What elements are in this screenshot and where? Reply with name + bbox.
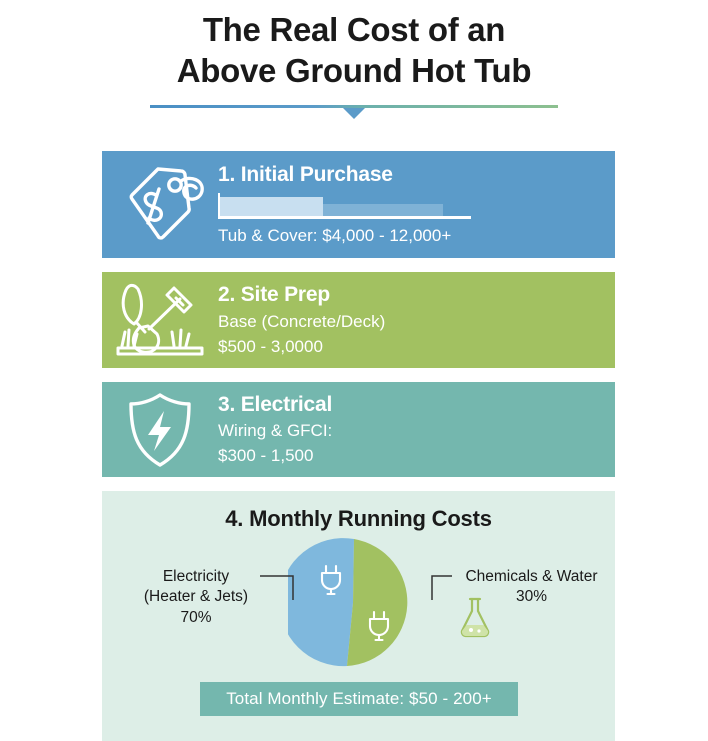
card-body: 1. Initial Purchase Tub & Cover: $4,000 … — [218, 162, 615, 247]
cost-card-electrical[interactable]: 3. Electrical Wiring & GFCI: $300 - 1,50… — [102, 382, 615, 477]
card-subtitle-line-2: $300 - 1,500 — [218, 445, 601, 467]
bar-baseline — [218, 216, 471, 219]
monthly-running-costs-panel: 4. Monthly Running Costs — [102, 491, 615, 741]
header-divider — [150, 105, 558, 119]
card-body: 3. Electrical Wiring & GFCI: $300 - 1,50… — [218, 392, 615, 467]
running-costs-pie-chart — [288, 538, 418, 668]
shovel-grass-icon — [102, 280, 218, 360]
card-subtitle-line-2: $500 - 3,0000 — [218, 336, 601, 358]
cost-card-list: 1. Initial Purchase Tub & Cover: $4,000 … — [102, 151, 615, 491]
bar-segment-high — [323, 204, 443, 216]
pie-label-electricity-line-2: (Heater & Jets) — [116, 587, 276, 607]
stepped-bar-graphic — [218, 193, 471, 221]
cost-card-site-prep[interactable]: 2. Site Prep Base (Concrete/Deck) $500 -… — [102, 272, 615, 368]
price-tag-dollar-icon — [102, 161, 218, 249]
triangle-down-icon — [343, 108, 365, 119]
leader-line-left — [260, 575, 294, 606]
bar-segment-low — [220, 197, 323, 216]
page-title: The Real Cost of an Above Ground Hot Tub — [124, 10, 584, 92]
card-title: 3. Electrical — [218, 392, 601, 417]
shield-bolt-icon — [102, 389, 218, 471]
card-subtitle: Tub & Cover: $4,000 - 12,000+ — [218, 225, 601, 247]
leader-line-right — [431, 575, 453, 606]
card-title: 1. Initial Purchase — [218, 162, 601, 187]
pie-slice-chemicals — [347, 539, 407, 666]
card-body: 2. Site Prep Base (Concrete/Deck) $500 -… — [218, 282, 615, 357]
pie-label-electricity-percent: 70% — [116, 608, 276, 628]
total-monthly-estimate-text: Total Monthly Estimate: $50 - 200+ — [226, 689, 492, 709]
card-subtitle-line-1: Wiring & GFCI: — [218, 420, 601, 442]
page-title-line-1: The Real Cost of an — [124, 10, 584, 51]
header: The Real Cost of an Above Ground Hot Tub — [0, 0, 708, 119]
card-subtitle-line-1: Base (Concrete/Deck) — [218, 311, 601, 333]
pie-label-electricity-line-1: Electricity — [116, 567, 276, 587]
card-title: 2. Site Prep — [218, 282, 601, 307]
pie-label-chemicals-line-1: Chemicals & Water — [454, 567, 609, 587]
pie-label-electricity: Electricity (Heater & Jets) 70% — [116, 567, 276, 628]
total-monthly-estimate-banner: Total Monthly Estimate: $50 - 200+ — [200, 682, 518, 716]
cost-card-initial-purchase[interactable]: 1. Initial Purchase Tub & Cover: $4,000 … — [102, 151, 615, 258]
pie-slice-electricity — [288, 538, 354, 666]
flask-icon — [457, 595, 493, 644]
panel-title: 4. Monthly Running Costs — [102, 491, 615, 532]
page-title-line-2: Above Ground Hot Tub — [124, 51, 584, 92]
